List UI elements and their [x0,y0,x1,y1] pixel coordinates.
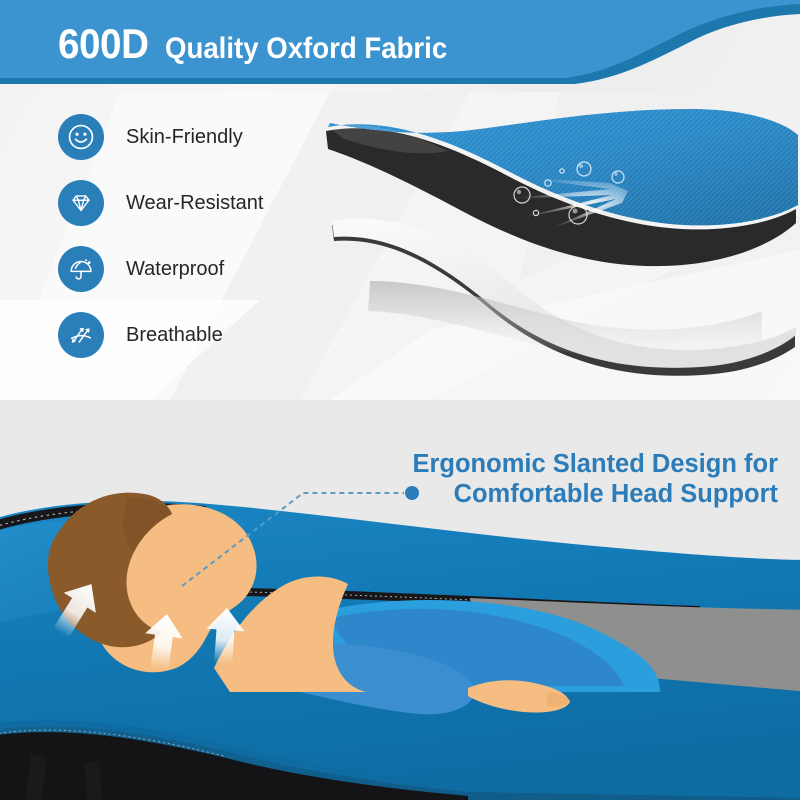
feature-item-waterproof: Waterproof [58,236,358,302]
ergonomic-design-section: Ergonomic Slanted Design for Comfortable… [0,400,800,800]
feature-label: Wear-Resistant [126,192,263,215]
smiley-icon [58,114,104,160]
header-title-group: 600DQuality Oxford Fabric [58,20,472,68]
feature-label: Waterproof [126,258,224,281]
header-title: Quality Oxford Fabric [165,32,447,66]
feature-list: Skin-Friendly Wear-Resistant [58,104,358,368]
feature-item-breathable: Breathable [58,302,358,368]
fabric-swatch-illustration [310,95,800,395]
umbrella-icon [58,246,104,292]
feature-item-wear-resistant: Wear-Resistant [58,170,358,236]
feature-label: Breathable [126,324,223,347]
headline-line-1: Ergonomic Slanted Design for [412,450,778,480]
feature-label: Skin-Friendly [126,126,243,149]
callout-headline: Ergonomic Slanted Design for Comfortable… [412,450,778,509]
header-highlight: 600D [58,20,149,68]
diamond-icon [58,180,104,226]
feature-item-skin-friendly: Skin-Friendly [58,104,358,170]
headline-line-2: Comfortable Head Support [412,480,778,510]
breathable-arrows-icon [58,312,104,358]
fabric-feature-section: 600DQuality Oxford Fabric Skin-Friendly [0,0,800,400]
infographic-page: 600DQuality Oxford Fabric Skin-Friendly [0,0,800,800]
